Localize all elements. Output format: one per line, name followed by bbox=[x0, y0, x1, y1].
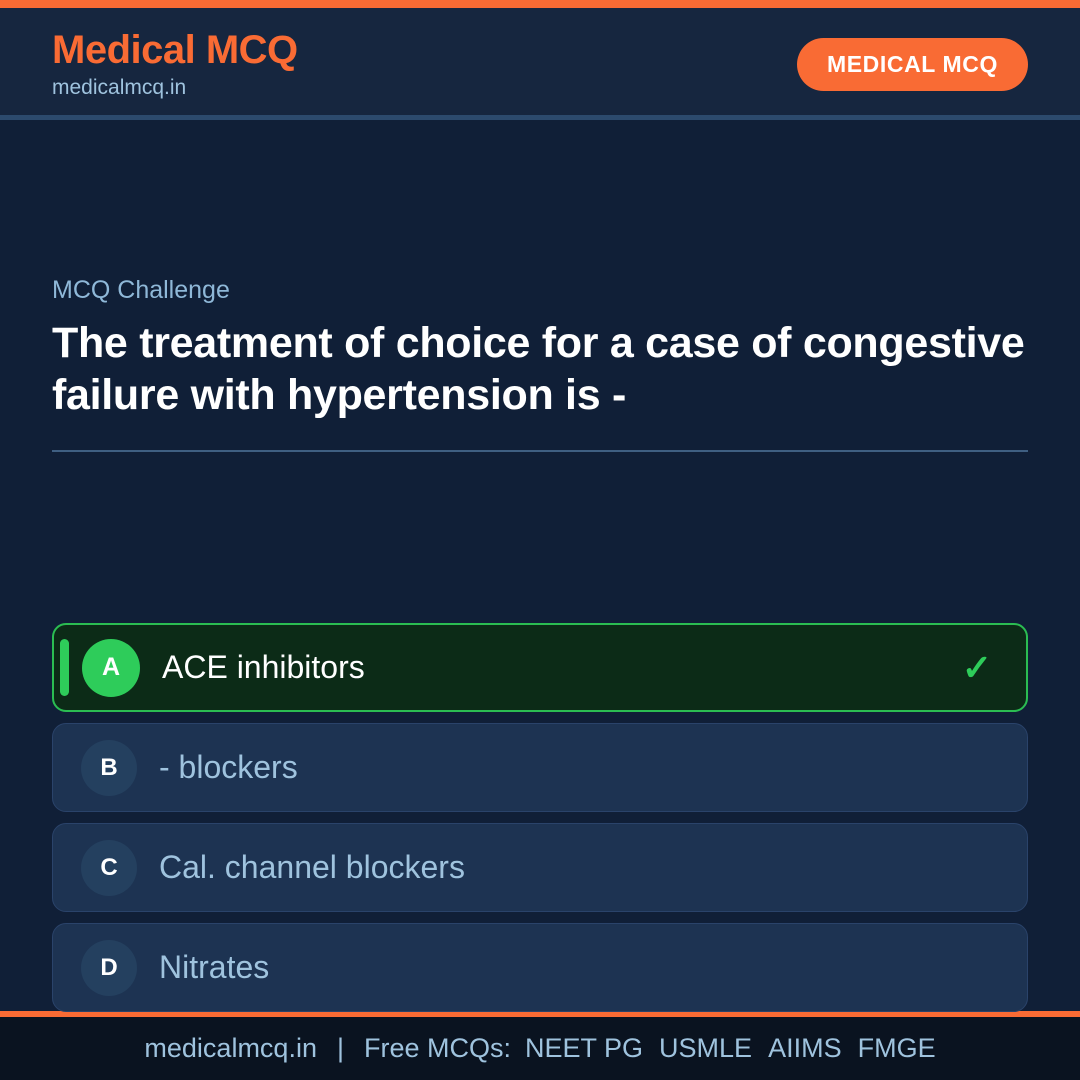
footer-site: medicalmcq.in bbox=[144, 1033, 317, 1064]
question-block: MCQ Challenge The treatment of choice fo… bbox=[52, 275, 1028, 452]
option-row-a[interactable]: A ACE inhibitors ✓ bbox=[52, 623, 1028, 712]
option-badge-c: C bbox=[81, 840, 137, 896]
footer: medicalmcq.in | Free MCQs: NEET PG USMLE… bbox=[0, 1017, 1080, 1080]
check-icon: ✓ bbox=[962, 650, 998, 686]
option-row-d[interactable]: D Nitrates bbox=[52, 923, 1028, 1012]
eyebrow-label: MCQ Challenge bbox=[52, 275, 1028, 305]
options-list: A ACE inhibitors ✓ B - blockers C Cal. c… bbox=[52, 623, 1028, 1023]
question-divider bbox=[52, 450, 1028, 452]
top-accent-bar bbox=[0, 0, 1080, 8]
footer-exam-usmle: USMLE bbox=[659, 1033, 752, 1064]
main-content: MCQ Challenge The treatment of choice fo… bbox=[0, 120, 1080, 1011]
option-row-c[interactable]: C Cal. channel blockers bbox=[52, 823, 1028, 912]
footer-separator: | bbox=[331, 1033, 350, 1064]
option-text-b: - blockers bbox=[159, 748, 298, 786]
option-text-a: ACE inhibitors bbox=[162, 648, 365, 686]
correct-accent-bar bbox=[60, 639, 69, 696]
footer-prefix: Free MCQs: bbox=[364, 1033, 511, 1064]
option-badge-b: B bbox=[81, 740, 137, 796]
footer-exam-aiims: AIIMS bbox=[768, 1033, 842, 1064]
footer-exam-neetpg: NEET PG bbox=[525, 1033, 643, 1064]
option-text-d: Nitrates bbox=[159, 948, 269, 986]
header-badge: MEDICAL MCQ bbox=[797, 38, 1028, 91]
footer-exam-fmge: FMGE bbox=[858, 1033, 936, 1064]
option-text-c: Cal. channel blockers bbox=[159, 848, 465, 886]
option-badge-d: D bbox=[81, 940, 137, 996]
footer-text: medicalmcq.in | Free MCQs: NEET PG USMLE… bbox=[144, 1033, 935, 1064]
mcq-card: Medical MCQ medicalmcq.in MEDICAL MCQ MC… bbox=[0, 0, 1080, 1080]
brand-title: Medical MCQ bbox=[52, 29, 298, 71]
question-text: The treatment of choice for a case of co… bbox=[52, 317, 1028, 422]
brand: Medical MCQ medicalmcq.in bbox=[52, 29, 298, 99]
option-row-b[interactable]: B - blockers bbox=[52, 723, 1028, 812]
header: Medical MCQ medicalmcq.in MEDICAL MCQ bbox=[0, 8, 1080, 120]
option-badge-a: A bbox=[82, 639, 140, 697]
brand-subtitle: medicalmcq.in bbox=[52, 76, 298, 99]
footer-exam-list: NEET PG USMLE AIIMS FMGE bbox=[525, 1033, 936, 1064]
